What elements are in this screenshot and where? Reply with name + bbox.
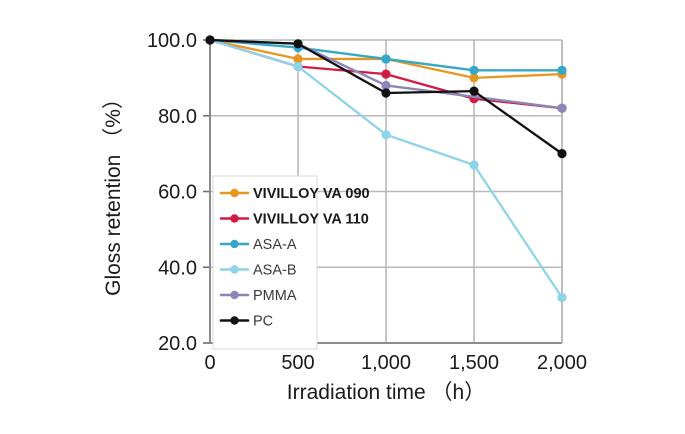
y-axis-title: Gloss retention （%）	[102, 88, 125, 296]
legend-swatch-marker	[230, 316, 238, 324]
data-point-asa-a	[558, 66, 566, 74]
data-point-pc	[382, 89, 390, 97]
data-point-vivilloy-va-090	[294, 55, 302, 63]
data-point-pmma	[558, 104, 566, 112]
x-tick-label: 2,000	[537, 352, 587, 374]
legend-label: VIVILLOY VA 090	[253, 186, 370, 202]
y-tick-label: 80.0	[158, 106, 197, 128]
legend-label: PC	[253, 314, 273, 330]
legend-label: PMMA	[253, 288, 297, 304]
data-point-asa-b	[382, 131, 390, 139]
data-point-asa-b	[558, 293, 566, 301]
x-tick-label: 500	[281, 352, 314, 374]
y-tick-label: 100.0	[147, 30, 197, 52]
legend-swatch-marker	[230, 214, 238, 222]
data-point-vivilloy-va-090	[470, 74, 478, 82]
legend-label: ASA-B	[253, 263, 297, 279]
data-point-pc	[558, 150, 566, 158]
data-point-asa-a	[470, 66, 478, 74]
data-point-pc	[206, 36, 214, 44]
data-point-pc	[470, 87, 478, 95]
x-axis-title: Irradiation time （h）	[287, 381, 485, 404]
data-point-asa-b	[294, 62, 302, 70]
x-tick-label: 0	[204, 352, 215, 374]
data-point-vivilloy-va-110	[382, 70, 390, 78]
y-tick-label: 40.0	[158, 257, 197, 279]
data-point-asa-a	[382, 55, 390, 63]
y-tick-label: 20.0	[158, 333, 197, 355]
legend-swatch-marker	[230, 265, 238, 273]
x-tick-label: 1,500	[449, 352, 499, 374]
x-tick-label: 1,000	[361, 352, 411, 374]
legend-label: ASA-A	[253, 237, 297, 253]
y-tick-label: 60.0	[158, 182, 197, 204]
data-point-pc	[294, 40, 302, 48]
gloss-retention-chart: 20.040.060.080.0100.005001,0001,5002,000…	[0, 0, 685, 434]
data-point-asa-b	[470, 161, 478, 169]
chart-canvas: 20.040.060.080.0100.005001,0001,5002,000…	[0, 0, 685, 434]
data-point-pmma	[382, 81, 390, 89]
legend-swatch-marker	[230, 240, 238, 248]
legend-label: VIVILLOY VA 110	[253, 212, 369, 228]
legend-swatch-marker	[230, 291, 238, 299]
legend-swatch-marker	[230, 189, 238, 197]
